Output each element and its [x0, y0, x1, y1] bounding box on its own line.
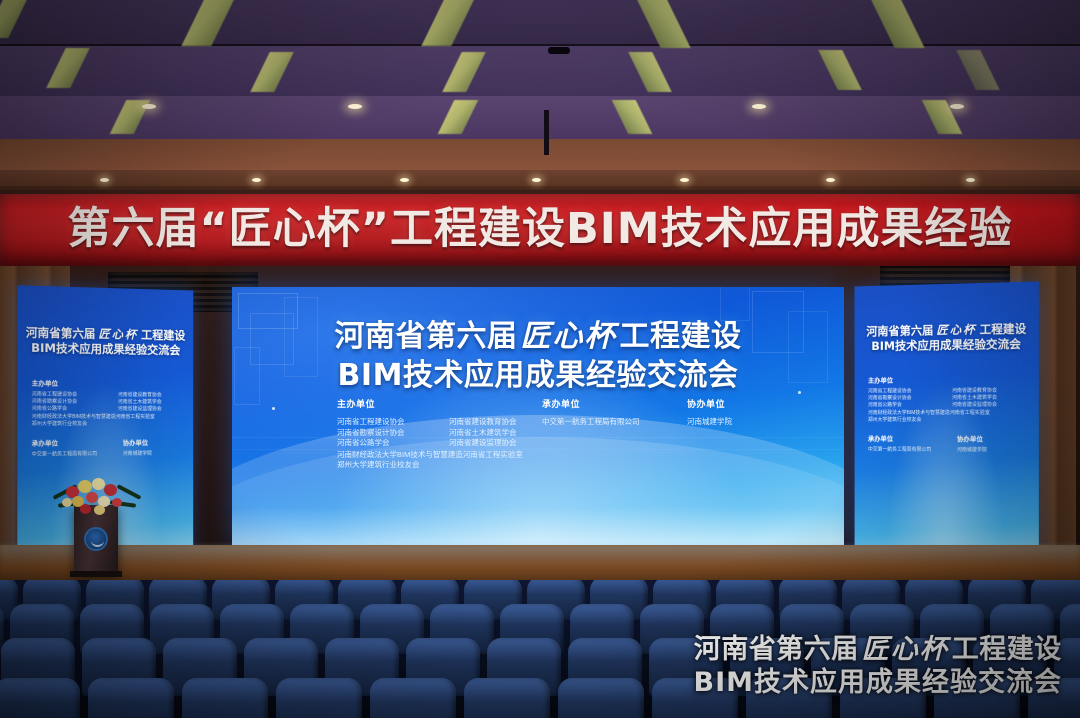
organizer-heading: 承办单位 — [32, 437, 97, 447]
organizer-heading: 承办单位 — [542, 397, 640, 410]
host-item: 河南省公路学会 — [868, 402, 944, 409]
ceiling-downlight — [252, 178, 261, 182]
flower-bloom — [80, 504, 91, 514]
title-prefix: 河南省第六届 — [866, 323, 933, 338]
screen-deco-grid — [17, 285, 58, 317]
ceiling-downlight — [532, 178, 541, 182]
host-item: 河南财经政法大学BIM技术与智慧建造河南省工程实验室 — [868, 409, 1031, 416]
co-organizer-item: 河南城建学院 — [123, 451, 152, 458]
standee-right: 河南省第六届匠心杯工程建设 BIM技术应用成果经验交流会 主办单位 河南省工程建… — [855, 281, 1039, 558]
ceiling-downlight — [950, 104, 964, 109]
host-list-right: 河南省建设教育协会 河南省土木建筑学会 河南省建设监理协会 — [449, 417, 547, 449]
ceiling-downlight — [752, 104, 766, 109]
red-banner-text: 第六届“匠心杯”工程建设BIM技术应用成果经验 — [0, 198, 1080, 260]
co-organizer-column: 协办单位 河南城建学院 — [123, 437, 152, 458]
seat — [276, 678, 362, 718]
title-brush-text: 匠心杯 — [859, 634, 952, 665]
main-screen-title-line2: BIM技术应用成果经验交流会 — [232, 350, 844, 394]
flower-bloom — [62, 498, 72, 507]
title-brush-text: 匠心杯 — [518, 319, 620, 354]
host-item: 河南省工程建设协会 — [337, 417, 435, 428]
host-item: 河南省公路学会 — [32, 406, 110, 413]
host-item: 河南省土木建筑学会 — [449, 428, 547, 439]
host-item: 郑州大学建筑行业校友会 — [337, 460, 547, 471]
ceiling-downlight — [400, 178, 409, 182]
ceiling-downlight — [348, 104, 362, 109]
title-suffix: 工程建设 — [620, 319, 742, 354]
co-organizer-item: 河南城建学院 — [957, 447, 987, 454]
organizer-column: 承办单位 中交第一航务工程局有限公司 — [32, 437, 97, 459]
podium-base — [70, 571, 122, 577]
host-list-left: 河南省工程建设协会 河南省勘察设计协会 河南省公路学会 — [337, 417, 435, 449]
flower-leaf — [117, 484, 142, 500]
standee-left-title-line2: BIM技术应用成果经验交流会 — [17, 339, 193, 358]
organizer-item: 中交第一航务工程局有限公司 — [32, 451, 97, 459]
ceiling-downlight — [100, 178, 109, 182]
organizer-item: 中交第一航务工程局有限公司 — [868, 447, 931, 455]
host-list-right: 河南省建设教育协会 河南省土木建筑学会 河南省建设监理协会 — [118, 392, 193, 414]
ceiling-downlight — [680, 178, 689, 182]
title-prefix: 河南省第六届 — [335, 319, 518, 354]
standee-left-organizations: 主办单位 河南省工程建设协会 河南省勘察设计协会 河南省公路学会 河南省建设教育… — [32, 377, 186, 459]
organizer-heading: 承办单位 — [868, 433, 931, 443]
title-prefix: 河南省第六届 — [694, 634, 859, 665]
conference-hall-photo: 第六届“匠心杯”工程建设BIM技术应用成果经验 河南省第六届匠心杯工程建设 BI… — [0, 0, 1080, 718]
ceiling-downlight — [826, 178, 835, 182]
title-brush-text: 匠心杯 — [933, 322, 979, 337]
host-heading: 主办单位 — [32, 377, 186, 388]
main-led-screen: 河南省第六届匠心杯工程建设 BIM技术应用成果经验交流会 主办单位 河南省工程建… — [232, 287, 844, 547]
seat — [558, 678, 644, 718]
flower-bloom — [86, 492, 98, 503]
flower-bloom — [78, 480, 92, 493]
flower-bloom — [94, 505, 105, 515]
host-item: 河南省建设监理协会 — [118, 406, 193, 413]
flower-bloom — [104, 484, 117, 496]
podium-emblem-icon — [84, 527, 108, 551]
title-suffix: 工程建设 — [141, 328, 185, 343]
co-organizer-heading: 协办单位 — [687, 397, 732, 410]
co-organizer-heading: 协办单位 — [957, 433, 987, 443]
host-list-left: 河南省工程建设协会 河南省勘察设计协会 河南省公路学会 — [868, 388, 944, 410]
overlay-title: 河南省第六届匠心杯工程建设 BIM技术应用成果经验交流会 — [694, 634, 1063, 700]
ceiling-vent — [548, 47, 570, 54]
ceiling-hanging-pole — [544, 110, 549, 155]
seat — [370, 678, 456, 718]
ceiling-downlight — [142, 104, 156, 109]
title-brush-text: 匠心杯 — [95, 327, 141, 342]
host-item: 郑州大学建筑行业校友会 — [868, 417, 1031, 424]
host-item: 郑州大学建筑行业校友会 — [32, 421, 186, 428]
host-item: 河南省建设教育协会 — [449, 417, 547, 428]
co-organizer-heading: 协办单位 — [123, 437, 152, 447]
organizer-column: 承办单位 中交第一航务工程局有限公司 — [868, 433, 931, 454]
host-item: 河南财经政法大学BIM技术与智慧建造河南省工程实验室 — [337, 450, 547, 461]
co-organizer-column: 协办单位 河南城建学院 — [957, 433, 987, 454]
ceiling-beam-2 — [0, 46, 1080, 96]
title-prefix: 河南省第六届 — [26, 325, 96, 341]
seat — [182, 678, 268, 718]
flower-arrangement — [50, 472, 144, 516]
main-screen-organizations: 主办单位 河南省工程建设协会 河南省勘察设计协会 河南省公路学会 河南省建设教育… — [232, 397, 844, 477]
host-item: 河南省建设监理协会 — [449, 438, 547, 449]
host-item: 河南财经政法大学BIM技术与智慧建造河南省工程实验室 — [32, 413, 186, 420]
host-heading: 主办单位 — [337, 397, 547, 410]
standee-right-title-line2: BIM技术应用成果经验交流会 — [855, 335, 1039, 354]
main-screen-title-line1: 河南省第六届匠心杯工程建设 — [232, 311, 844, 355]
organizer-column: 承办单位 中交第一航务工程局有限公司 — [542, 397, 640, 428]
host-item: 河南省公路学会 — [337, 438, 435, 449]
host-list-right: 河南省建设教育协会 河南省土木建筑学会 河南省建设监理协会 — [952, 387, 1031, 409]
ceiling — [0, 0, 1080, 196]
ceiling-downlight — [966, 178, 975, 182]
host-column: 主办单位 河南省工程建设协会 河南省勘察设计协会 河南省公路学会 河南省建设教育… — [337, 397, 547, 471]
title-suffix: 工程建设 — [952, 634, 1062, 665]
organizer-item: 中交第一航务工程局有限公司 — [542, 417, 640, 428]
host-list-left: 河南省工程建设协会 河南省勘察设计协会 河南省公路学会 — [32, 391, 110, 413]
standee-right-organizations: 主办单位 河南省工程建设协会 河南省勘察设计协会 河南省公路学会 河南省建设教育… — [868, 373, 1031, 455]
flower-bloom — [92, 478, 105, 490]
ceiling-beam-4 — [0, 139, 1080, 171]
seat — [88, 678, 174, 718]
co-organizer-item: 河南城建学院 — [687, 417, 732, 428]
co-organizer-column: 协办单位 河南城建学院 — [687, 397, 732, 428]
seat — [0, 678, 80, 718]
host-heading: 主办单位 — [868, 373, 1031, 384]
stage-reflection — [0, 545, 1080, 585]
seat — [464, 678, 550, 718]
screen-deco-grid — [855, 285, 895, 319]
host-item: 河南省建设监理协会 — [952, 402, 1031, 409]
host-item: 河南省勘察设计协会 — [337, 428, 435, 439]
overlay-title-line1: 河南省第六届匠心杯工程建设 — [694, 634, 1063, 667]
ceiling-beam-3 — [0, 96, 1080, 140]
overlay-title-line2: BIM技术应用成果经验交流会 — [694, 667, 1063, 700]
title-suffix: 工程建设 — [980, 321, 1027, 336]
flower-bloom — [112, 498, 122, 507]
